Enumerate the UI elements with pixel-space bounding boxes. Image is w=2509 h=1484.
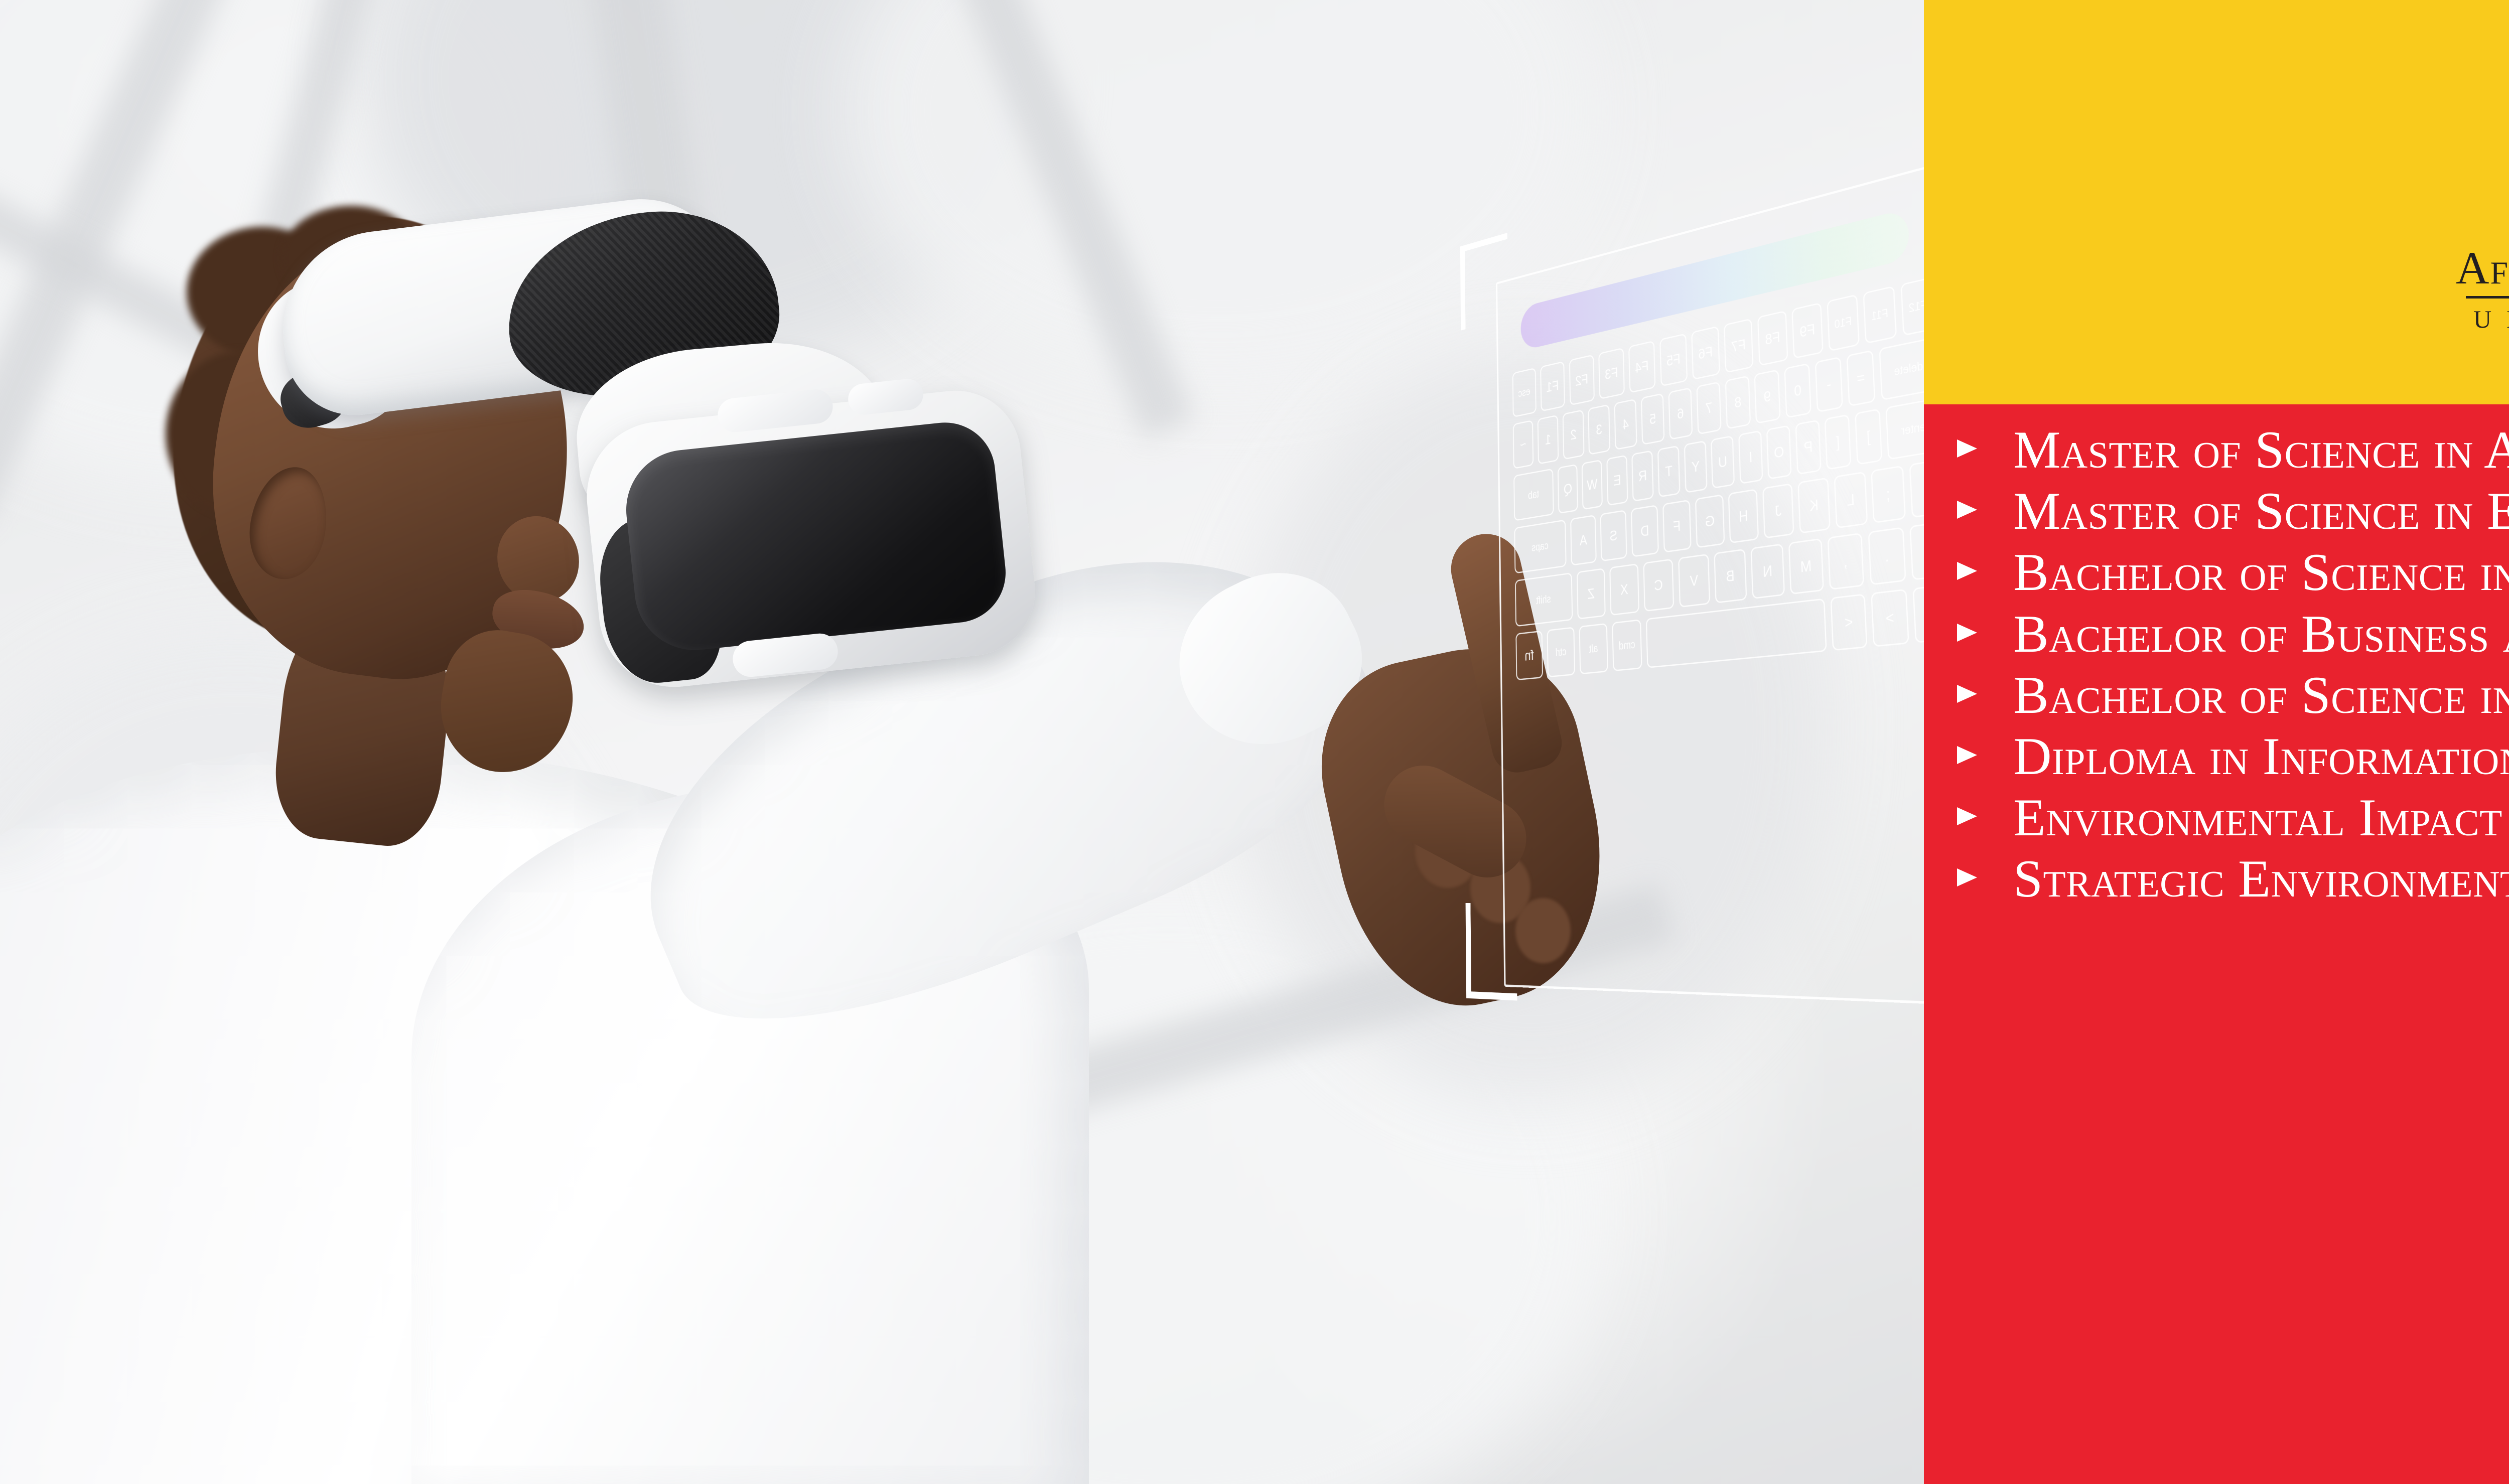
bullet-arrow-icon [1957,868,1977,886]
hologram-corner-bracket-icon [1466,903,1517,1000]
keyboard-key[interactable]: Y [1684,440,1708,493]
keyboard-key[interactable]: enter [1885,397,1924,460]
keyboard-key[interactable]: L [1834,471,1868,528]
program-label: Master of Science in Environment and Nat… [2013,482,2509,540]
keyboard-key[interactable]: F9 [1791,303,1824,359]
program-list-item: Environmental Impact Assessment and Envi… [1953,788,2509,847]
keyboard-key[interactable]: 3 [1588,404,1611,455]
keyboard-key[interactable]: Q [1558,464,1578,514]
university-wordmark: Africa Nazarene UNIVERSITY [2456,245,2509,334]
keyboard-key[interactable]: fn [1515,631,1543,681]
keyboard-key[interactable]: - [1815,356,1843,412]
keyboard-key[interactable]: 7 [1696,381,1721,434]
keyboard-key[interactable]: F2 [1569,354,1594,405]
bullet-arrow-icon [1957,439,1977,458]
keyboard-key[interactable]: F8 [1757,311,1788,366]
content-panel: AFRICA NAZARENE UNIVERSITY HOLINESS EDUC… [1924,0,2509,1484]
keyboard-key[interactable]: W [1582,460,1603,510]
program-label: Diploma in Information Technology [2013,727,2509,786]
bullet-arrow-icon [1957,685,1977,703]
keyboard-key[interactable]: < [1830,593,1867,651]
keyboard-key[interactable]: shift [1515,572,1573,627]
banner-root: escF1F2F3F4F5F6F7F8F9F10F11F12 ~12345678… [0,0,2509,1484]
keyboard-key[interactable]: F4 [1628,341,1656,393]
wordmark-rule [2466,296,2509,299]
keyboard-key[interactable] [1646,598,1827,668]
keyboard-key[interactable]: ] [1855,408,1882,465]
keyboard-key[interactable]: F5 [1659,333,1688,387]
bullet-arrow-icon [1957,807,1977,825]
keyboard-key[interactable]: 1 [1538,415,1559,465]
bullet-arrow-icon [1957,746,1977,764]
keyboard-key[interactable]: V [1678,554,1710,608]
bullet-arrow-icon [1957,562,1977,580]
keyboard-key[interactable]: J [1762,483,1794,539]
keyboard-key[interactable]: [ [1825,414,1851,470]
keyboard-key[interactable]: H [1728,489,1759,543]
program-list-item: Strategic Environmental Assessment (SEA) [1953,849,2509,909]
keyboard-key[interactable]: U [1711,435,1735,489]
hologram-corner-bracket-icon [1460,233,1508,331]
program-list-item: Bachelor of Science in Computer Science [1953,543,2509,602]
apply-url[interactable]: www.anu.ac.ke/apply/ [2112,1390,2509,1429]
keyboard-key[interactable]: B [1714,549,1747,604]
program-label: Master of Science in Applied IT [2013,420,2509,479]
keyboard-key[interactable]: O [1766,425,1792,480]
program-list-item: Master of Science in Applied IT [1953,420,2509,480]
keyboard-key[interactable]: alt [1579,623,1608,675]
keyboard-key[interactable]: D [1631,505,1659,557]
keyboard-key[interactable]: tab [1513,468,1554,521]
keyboard-key[interactable]: F10 [1827,294,1860,352]
university-logo: AFRICA NAZARENE UNIVERSITY HOLINESS EDUC… [2426,10,2509,391]
panel-header: AFRICA NAZARENE UNIVERSITY HOLINESS EDUC… [1924,0,2509,404]
wordmark-sub: UNIVERSITY [2456,305,2509,334]
keyboard-key[interactable]: X [1609,563,1639,616]
keyboard-key[interactable]: 5 [1641,393,1664,445]
program-list-item: Bachelor of Business and Information Tec… [1953,605,2509,664]
keyboard-key[interactable]: F12 [1900,277,1924,336]
keyboard-key[interactable]: . [1868,527,1906,585]
keyboard-key[interactable]: = [1846,350,1875,406]
keyboard-key[interactable]: 8 [1725,375,1751,429]
keyboard-key[interactable]: ~ [1513,420,1534,469]
keyboard-key[interactable]: A [1570,515,1596,566]
program-label: Bachelor of Science in Computer Science [2013,543,2509,602]
keyboard-key[interactable]: esc [1512,368,1536,418]
keyboard-key[interactable]: F6 [1691,326,1720,380]
keyboard-key[interactable]: I [1738,430,1763,484]
keyboard-key[interactable]: C [1643,558,1675,612]
keyboard-key[interactable]: T [1657,445,1680,497]
keyboard-key[interactable]: 0 [1784,363,1812,418]
keyboard-key[interactable]: P [1795,419,1821,475]
hero-photo: escF1F2F3F4F5F6F7F8F9F10F11F12 ~12345678… [0,0,1924,1484]
wordmark-main: Africa Nazarene [2456,245,2509,291]
keyboard-key[interactable]: ' [1909,459,1924,518]
vr-headset-lens [620,417,1011,656]
keyboard-key[interactable]: S [1600,510,1627,561]
keyboard-key[interactable]: > [1871,589,1909,647]
bullet-arrow-icon [1957,501,1977,519]
keyboard-key[interactable]: F11 [1863,285,1897,344]
keyboard-key[interactable]: F3 [1598,348,1625,400]
program-list: Master of Science in Applied ITMaster of… [1953,420,2509,911]
keyboard-key[interactable]: 4 [1614,398,1637,450]
keyboard-key[interactable]: ctrl [1547,627,1576,677]
program-list-item: Diploma in Information Technology [1953,727,2509,786]
keyboard-key[interactable]: cmd [1612,619,1642,671]
keyboard-key[interactable]: caps [1514,519,1567,573]
program-list-item: Master of Science in Environment and Nat… [1953,482,2509,541]
keyboard-key[interactable]: R [1632,450,1654,502]
program-label: Strategic Environmental Assessment (SEA) [2013,849,2509,908]
keyboard-key[interactable]: 9 [1754,369,1781,424]
keyboard-key[interactable]: K [1797,477,1830,533]
keyboard-key[interactable]: F7 [1724,318,1754,373]
keyboard-key[interactable]: , [1828,533,1865,590]
holographic-keyboard: escF1F2F3F4F5F6F7F8F9F10F11F12 ~12345678… [1472,111,1924,1088]
bullet-arrow-icon [1957,624,1977,642]
keyboard-key[interactable]: N [1750,543,1785,599]
keyboard-key[interactable]: delete [1879,337,1924,400]
keyboard-key[interactable]: E [1607,455,1628,506]
keyboard-key[interactable]: Z [1577,568,1606,620]
keyboard-key[interactable]: 2 [1563,409,1585,460]
virtual-keyboard: escF1F2F3F4F5F6F7F8F9F10F11F12 ~12345678… [1512,277,1924,963]
keyboard-key[interactable]: F1 [1540,361,1565,412]
keyboard-key[interactable]: 6 [1668,387,1693,440]
keyboard-key[interactable]: F [1662,500,1692,553]
program-label: Bachelor of Science in Environment and N… [2013,666,2509,724]
keyboard-key[interactable]: ^ [1912,584,1924,643]
keyboard-key[interactable]: G [1695,494,1725,548]
keyboard-key[interactable]: / [1909,521,1924,580]
keyboard-key[interactable]: ; [1871,465,1906,523]
program-label: Environmental Impact Assessment and Envi… [2013,788,2509,847]
program-label: Bachelor of Business and Information Tec… [2013,605,2509,663]
program-list-item: Bachelor of Science in Environment and N… [1953,666,2509,725]
keyboard-key[interactable]: M [1788,538,1824,595]
